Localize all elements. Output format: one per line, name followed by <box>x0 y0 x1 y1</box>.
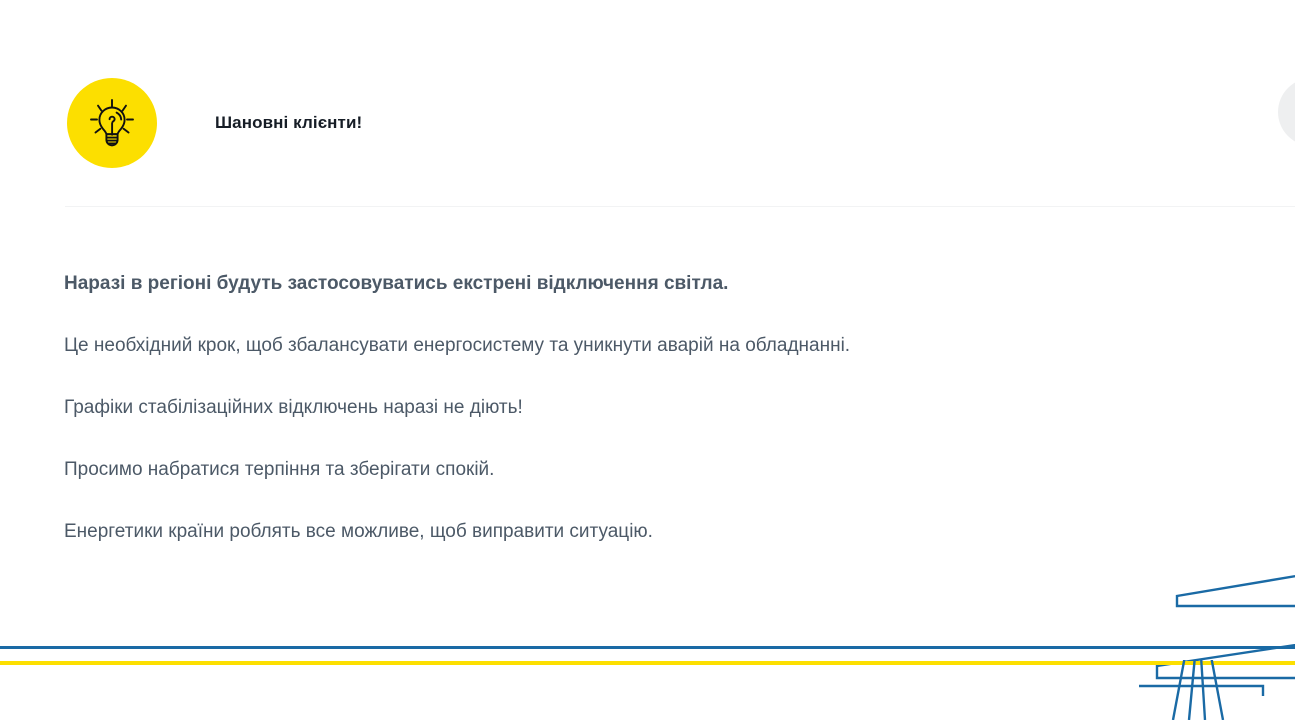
page-title: Шановні клієнти! <box>215 113 362 133</box>
lightbulb-icon <box>86 97 138 149</box>
notice-body: Наразі в регіоні будуть застосовуватись … <box>64 272 1225 544</box>
notice-page: Шановні клієнти! Наразі в регіоні будуть… <box>0 0 1295 720</box>
header-divider <box>65 206 1295 207</box>
yellow-divider-rule <box>0 661 1295 665</box>
notice-line: Просимо набратися терпіння та зберігати … <box>64 458 1225 482</box>
notice-line: Це необхідний крок, щоб збалансувати ене… <box>64 334 1225 358</box>
gray-circle-decoration <box>1278 78 1295 146</box>
lightbulb-badge <box>67 78 157 168</box>
notice-line: Енергетики країни роблять все можливе, щ… <box>64 520 1225 544</box>
power-tower-legs <box>1139 660 1295 720</box>
notice-line: Графіки стабілізаційних відключень нараз… <box>64 396 1225 420</box>
power-transmission-tower-icon <box>1139 556 1295 720</box>
notice-line: Наразі в регіоні будуть застосовуватись … <box>64 272 1225 296</box>
notice-header: Шановні клієнти! <box>67 78 362 168</box>
blue-divider-rule <box>0 646 1295 649</box>
